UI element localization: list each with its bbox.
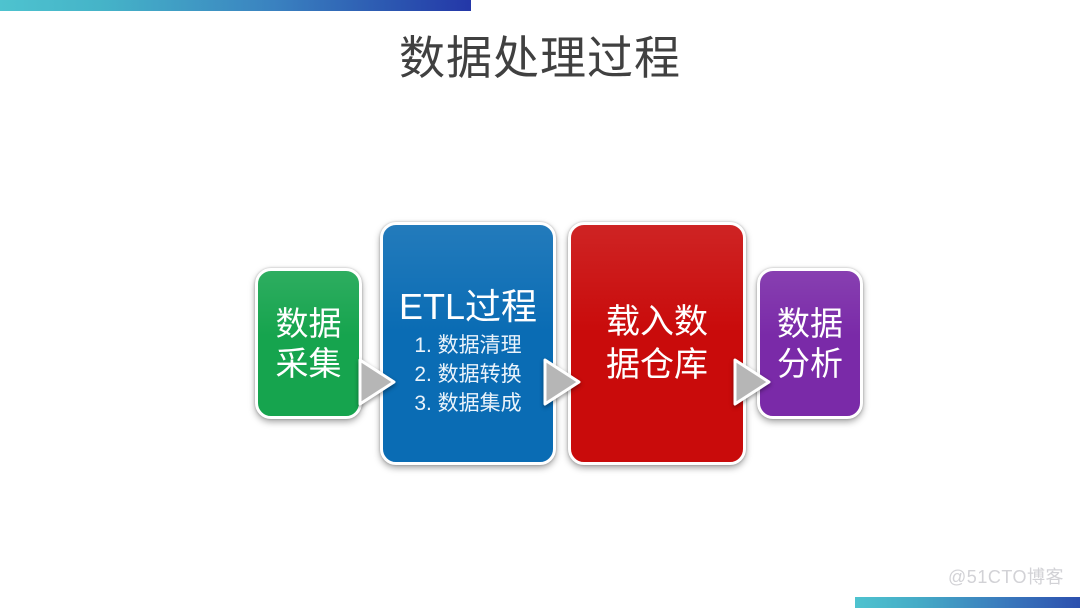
stage-collection-title-line1: 数据 — [276, 304, 342, 344]
stage-load-warehouse[interactable]: 载入数 据仓库 — [568, 222, 746, 465]
list-item: 3. 数据集成 — [414, 389, 521, 418]
stage-analysis-title-line2: 分析 — [777, 344, 843, 384]
stage-collection-title-line2: 采集 — [276, 344, 342, 384]
stage-analysis-title-line1: 数据 — [777, 304, 843, 344]
arrow-right-icon — [540, 356, 584, 408]
data-process-diagram: 数据 采集 ETL过程 1. 数据清理 2. 数据转换 3. 数据集成 载入数 … — [0, 0, 1080, 608]
list-item: 1. 数据清理 — [414, 331, 521, 360]
arrow-right-icon — [355, 356, 399, 408]
stage-etl[interactable]: ETL过程 1. 数据清理 2. 数据转换 3. 数据集成 — [380, 222, 556, 465]
bottom-accent-bar — [855, 597, 1080, 608]
list-item: 2. 数据转换 — [414, 360, 521, 389]
watermark-label: @51CTO博客 — [948, 566, 1064, 588]
stage-etl-step-list: 1. 数据清理 2. 数据转换 3. 数据集成 — [414, 331, 521, 418]
arrow-right-icon — [730, 356, 774, 408]
stage-load-title-line2: 据仓库 — [606, 344, 708, 387]
stage-analysis-title: 数据 分析 — [777, 304, 843, 384]
stage-etl-title: ETL过程 — [399, 285, 537, 329]
stage-load-title-line1: 载入数 — [606, 301, 708, 344]
stage-data-collection[interactable]: 数据 采集 — [255, 268, 362, 419]
stage-collection-title: 数据 采集 — [276, 304, 342, 384]
stage-load-title: 载入数 据仓库 — [606, 301, 708, 387]
